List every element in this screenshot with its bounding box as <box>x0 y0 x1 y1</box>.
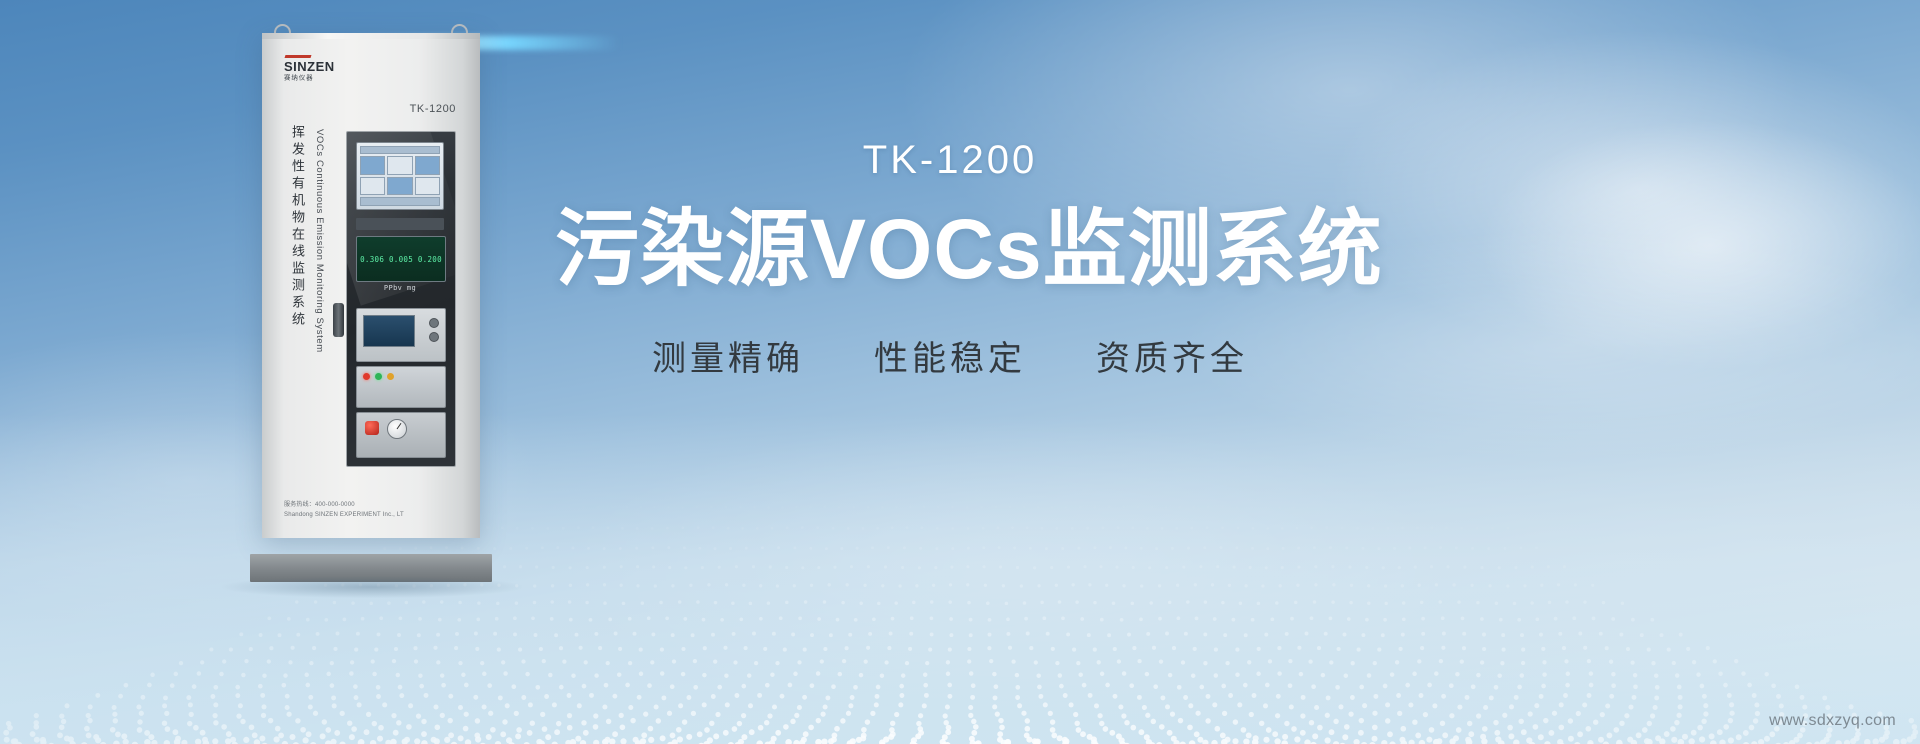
cabinet-glass-door: 0.306 0.005 0.200 PPbv mg <box>346 131 456 467</box>
product-hero-banner: SINZEN 赛纳仪器 TK-1200 挥发性有机物在线监测系统 VOCs Co… <box>0 0 1920 744</box>
emergency-stop-icon <box>365 421 379 435</box>
hmi-footer-bar <box>360 197 440 206</box>
cabinet-vertical-chinese-label: 挥发性有机物在线监测系统 <box>288 125 306 425</box>
control-module <box>356 366 446 408</box>
hmi-tile <box>360 156 385 175</box>
digital-readout-display: 0.306 0.005 0.200 <box>356 236 446 282</box>
hmi-tile <box>415 156 440 175</box>
knob-icon <box>429 332 439 342</box>
brand-name: SINZEN <box>284 60 346 73</box>
analyzer-screen <box>363 315 415 347</box>
pump-and-gauge-module <box>356 412 446 458</box>
status-led-group <box>363 373 394 380</box>
brand-subtitle: 赛纳仪器 <box>284 75 341 81</box>
pressure-gauge-icon <box>387 419 407 439</box>
cabinet-footer-text: 服务热线：400-000-0000 Shandong SINZEN EXPERI… <box>284 501 404 520</box>
door-handle <box>333 303 344 337</box>
site-watermark: www.sdxzyq.com <box>1769 712 1896 730</box>
hero-feature-tags: 测量精确 性能稳定 资质齐全 <box>555 339 1345 380</box>
cabinet-body: SINZEN 赛纳仪器 TK-1200 挥发性有机物在线监测系统 VOCs Co… <box>262 33 480 538</box>
knob-icon <box>429 318 439 328</box>
hmi-touch-panel <box>356 142 444 210</box>
hmi-tile <box>415 177 440 196</box>
cabinet-top-edge <box>262 33 480 39</box>
digital-readout-units: PPbv mg <box>356 284 444 292</box>
cloud-haze <box>1480 120 1920 370</box>
cloud-haze <box>560 420 1460 720</box>
hmi-tile <box>360 177 385 196</box>
logo-accent-bar <box>285 55 312 58</box>
analyzer-knob-group <box>429 318 439 342</box>
cabinet-company-line: Shandong SINZEN EXPERIMENT Inc., LT <box>284 511 404 520</box>
hmi-tile <box>387 177 412 196</box>
hmi-tile <box>387 156 412 175</box>
cabinet-vertical-english-label: VOCs Continuous Emission Monitoring Syst… <box>314 129 325 379</box>
status-led-red-icon <box>363 373 370 380</box>
hmi-header-bar <box>360 146 440 154</box>
hero-text-block: TK-1200 污染源VOCs监测系统 测量精确 性能稳定 资质齐全 <box>555 138 1345 380</box>
product-cabinet: SINZEN 赛纳仪器 TK-1200 挥发性有机物在线监测系统 VOCs Co… <box>262 24 480 554</box>
feature-tag-3: 资质齐全 <box>1096 339 1248 380</box>
cabinet-model-plate: TK-1200 <box>410 103 456 115</box>
feature-tag-1: 测量精确 <box>652 339 804 380</box>
hero-model-label: TK-1200 <box>555 138 1345 182</box>
status-led-amber-icon <box>387 373 394 380</box>
cabinet-service-line: 服务热线：400-000-0000 <box>284 501 404 510</box>
brand-logo: SINZEN 赛纳仪器 <box>284 55 346 82</box>
equipment-name-strip <box>356 218 444 230</box>
feature-tag-2: 性能稳定 <box>874 339 1026 380</box>
status-led-green-icon <box>375 373 382 380</box>
hero-headline: 污染源VOCs监测系统 <box>555 204 1345 295</box>
cloud-haze <box>1330 30 1920 350</box>
analyzer-module <box>356 308 446 362</box>
cabinet-ground-shadow <box>222 576 522 598</box>
